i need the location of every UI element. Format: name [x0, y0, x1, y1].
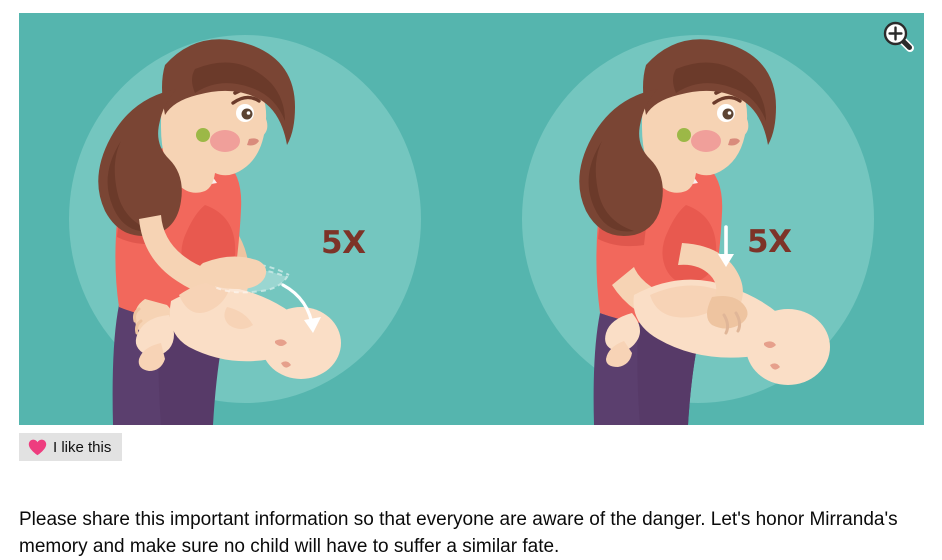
- like-button-label: I like this: [53, 439, 111, 456]
- heart-icon: [28, 439, 47, 456]
- woman-with-infant-back-blows-figure: [19, 13, 471, 425]
- illustration-panel-back-blows: 5X: [19, 13, 471, 425]
- zoom-in-icon[interactable]: [881, 19, 915, 53]
- like-button[interactable]: I like this: [19, 433, 122, 461]
- illustration-panel-chest-thrusts: 5X: [472, 13, 924, 425]
- woman-with-infant-chest-thrusts-figure: [472, 13, 924, 425]
- count-label-back-blows: 5X: [321, 228, 365, 259]
- illustration-image[interactable]: 5X: [19, 13, 924, 425]
- caption-text: Please share this important information …: [19, 506, 919, 560]
- count-label-chest-thrusts: 5X: [747, 227, 791, 258]
